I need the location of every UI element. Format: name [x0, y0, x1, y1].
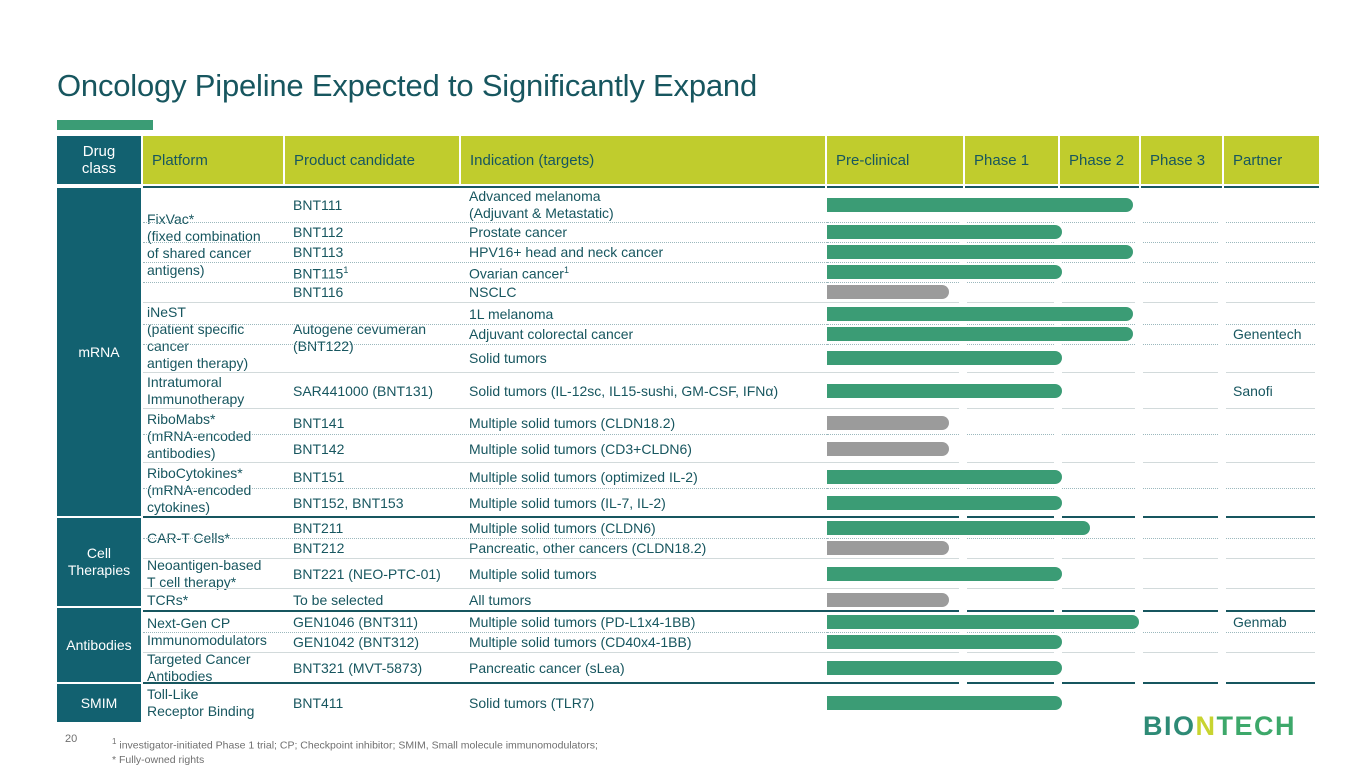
row-divider [967, 682, 1054, 684]
row-divider [143, 324, 877, 325]
footnote-text-1: investigator-initiated Phase 1 trial; CP… [119, 740, 598, 752]
indication-label: Multiple solid tumors (CLDN18.2) [469, 415, 675, 432]
row-divider [1226, 434, 1315, 435]
row-divider [827, 434, 959, 435]
stage-bar [827, 307, 1133, 321]
platform-cell: RiboCytokines* (mRNA-encoded cytokines) [143, 464, 287, 516]
indication-cell: Multiple solid tumors (CLDN6) [465, 518, 881, 538]
page-title: Oncology Pipeline Expected to Significan… [57, 68, 757, 104]
product-candidate-cell: BNT1151 [289, 262, 465, 282]
product-candidate-label: BNT141 [293, 415, 344, 432]
row-divider [143, 652, 877, 653]
row-divider [1143, 434, 1218, 435]
product-candidate-cell: GEN1046 (BNT311) [289, 612, 465, 632]
row-divider [1143, 408, 1218, 409]
header-indication-label: Indication (targets) [461, 152, 594, 169]
header-platform-label: Platform [143, 152, 208, 169]
partner-cell: Genentech [1227, 324, 1323, 344]
row-divider [827, 242, 959, 243]
header-phase2: Phase 2 [1060, 136, 1139, 184]
product-candidate-cell: BNT111 [289, 188, 465, 222]
platform-label: Targeted Cancer Antibodies [147, 651, 251, 685]
header-preclinical: Pre-clinical [827, 136, 963, 184]
row-divider [1226, 610, 1315, 612]
platform-label: Neoantigen-based T cell therapy* [147, 557, 261, 591]
row-divider [827, 282, 959, 283]
row-divider [827, 262, 959, 263]
drug-class-smim: SMIM [57, 684, 141, 722]
indication-label: Prostate cancer [469, 224, 567, 241]
stage-bar [827, 265, 1062, 279]
row-divider [1062, 344, 1135, 345]
header-partner: Partner [1224, 136, 1319, 184]
platform-cell: Targeted Cancer Antibodies [143, 654, 287, 682]
row-divider [827, 344, 959, 345]
row-divider [1226, 516, 1315, 518]
indication-label: Multiple solid tumors (PD-L1x4-1BB) [469, 614, 695, 631]
row-divider [143, 558, 877, 559]
product-candidate-label: GEN1042 (BNT312) [293, 634, 419, 651]
row-divider [1062, 538, 1135, 539]
row-divider [1062, 302, 1135, 303]
platform-cell: TCRs* [143, 590, 287, 610]
stage-bar [827, 593, 949, 607]
platform-cell: Toll-Like Receptor Binding [143, 684, 287, 722]
header-drug-class-line1: Drug [83, 143, 116, 160]
product-candidate-cell: BNT142 [289, 436, 465, 462]
product-candidate-label: BNT221 (NEO-PTC-01) [293, 566, 441, 583]
header-platform: Platform [143, 136, 283, 184]
platform-label: Toll-Like Receptor Binding [147, 686, 254, 720]
row-divider [1143, 652, 1218, 653]
footnote-marker: 1 [112, 737, 116, 746]
product-candidate-label: BNT112 [293, 224, 343, 241]
row-divider [827, 538, 959, 539]
pipeline-table: Drug class Platform Product candidate In… [57, 136, 1319, 722]
row-divider [1143, 282, 1218, 283]
row-divider [143, 588, 877, 589]
row-divider [967, 372, 1054, 373]
row-divider [967, 302, 1054, 303]
row-divider [1143, 488, 1218, 489]
page-number: 20 [65, 733, 77, 745]
stage-bar [827, 442, 949, 456]
row-divider [967, 344, 1054, 345]
header-phase2-label: Phase 2 [1060, 152, 1124, 169]
stage-bar [827, 351, 1062, 365]
row-divider [1062, 282, 1135, 283]
product-candidate-cell: SAR441000 (BNT131) [289, 374, 465, 408]
row-divider [143, 632, 877, 633]
stage-bar [827, 470, 1062, 484]
row-divider [1062, 408, 1135, 409]
row-divider [1143, 516, 1218, 518]
header-product-candidate: Product candidate [285, 136, 459, 184]
product-candidate-cell: BNT321 (MVT-5873) [289, 654, 465, 682]
stage-bar [827, 521, 1090, 535]
row-divider [967, 652, 1054, 653]
row-divider [1226, 538, 1315, 539]
row-divider [827, 222, 959, 223]
partner-cell: Genmab [1227, 612, 1323, 632]
row-divider [967, 610, 1054, 612]
platform-label: RiboCytokines* (mRNA-encoded cytokines) [147, 465, 251, 516]
row-divider [827, 558, 959, 559]
product-candidate-label: Autogene cevumeran (BNT122) [293, 321, 426, 355]
indication-label: Multiple solid tumors (IL-7, IL-2) [469, 495, 666, 512]
partner-label: Sanofi [1233, 383, 1273, 400]
platform-cell: FixVac* (fixed combination of shared can… [143, 188, 287, 302]
row-divider [1062, 222, 1135, 223]
stage-bar [827, 696, 1062, 710]
product-candidate-cell: BNT141 [289, 410, 465, 436]
product-candidate-cell: BNT116 [289, 282, 465, 302]
drug-class-antibodies: Antibodies [57, 608, 141, 682]
row-divider [967, 488, 1054, 489]
row-divider [1062, 632, 1135, 633]
row-divider [1062, 372, 1135, 373]
stage-bar [827, 661, 1062, 675]
row-divider [1062, 588, 1135, 589]
product-candidate-cell: To be selected [289, 590, 465, 610]
row-divider [1143, 324, 1218, 325]
row-divider [827, 408, 959, 409]
indication-cell: Multiple solid tumors (CD40x4-1BB) [465, 632, 881, 652]
product-candidate-label: BNT211 [293, 520, 343, 537]
row-divider [1143, 302, 1218, 303]
stage-bar [827, 384, 1062, 398]
stage-bar [827, 198, 1133, 212]
product-candidate-cell: Autogene cevumeran (BNT122) [289, 304, 465, 372]
row-divider [1143, 682, 1218, 684]
platform-cell: iNeST (patient specific cancer antigen t… [143, 304, 287, 372]
header-phase1: Phase 1 [965, 136, 1058, 184]
indication-cell: Pancreatic, other cancers (CLDN18.2) [465, 538, 881, 558]
product-candidate-cell: GEN1042 (BNT312) [289, 632, 465, 652]
row-divider [967, 558, 1054, 559]
row-divider [1226, 558, 1315, 559]
row-divider [1143, 610, 1218, 612]
product-candidate-label: GEN1046 (BNT311) [293, 614, 418, 631]
drug-class-antibodies-label: Antibodies [66, 637, 131, 654]
stage-bar [827, 635, 1062, 649]
biontech-logo: BIONTECH [1143, 711, 1296, 742]
product-candidate-label: BNT111 [293, 197, 342, 214]
row-divider [1143, 344, 1218, 345]
row-divider [143, 488, 877, 489]
indication-label: Multiple solid tumors (CLDN6) [469, 520, 656, 537]
platform-cell: Neoantigen-based T cell therapy* [143, 560, 287, 588]
row-divider [1062, 262, 1135, 263]
indication-label: Solid tumors (IL-12sc, IL15-sushi, GM-CS… [469, 383, 778, 400]
indication-cell: Adjuvant colorectal cancer [465, 324, 881, 344]
pipeline-body: FixVac* (fixed combination of shared can… [143, 188, 1319, 722]
header-drug-class: Drug class [57, 136, 141, 184]
indication-label: Multiple solid tumors [469, 566, 597, 583]
product-candidate-label: To be selected [293, 592, 383, 609]
row-divider [827, 302, 959, 303]
row-divider [827, 652, 959, 653]
footnote-line-2: * Fully-owned rights [112, 753, 598, 767]
platform-cell: Intratumoral Immunotherapy [143, 374, 287, 408]
stage-bar [827, 416, 949, 430]
product-candidate-label: BNT1151 [293, 262, 348, 283]
indication-label: Multiple solid tumors (CD40x4-1BB) [469, 634, 692, 651]
product-candidate-label: BNT152, BNT153 [293, 495, 404, 512]
row-divider [967, 222, 1054, 223]
row-divider [143, 344, 877, 345]
row-divider [1143, 222, 1218, 223]
row-divider [967, 588, 1054, 589]
row-divider [1226, 344, 1315, 345]
row-divider [1226, 488, 1315, 489]
row-divider [827, 516, 959, 518]
row-divider [967, 516, 1054, 518]
row-divider [1062, 610, 1135, 612]
row-divider [1226, 408, 1315, 409]
platform-label: Intratumoral Immunotherapy [147, 374, 244, 408]
row-divider [143, 262, 877, 263]
drug-class-cell-therapies-label: Cell Therapies [68, 545, 130, 579]
row-divider [1062, 558, 1135, 559]
row-divider [1226, 372, 1315, 373]
header-product-candidate-label: Product candidate [285, 152, 415, 169]
indication-cell: Multiple solid tumors (optimized IL-2) [465, 464, 881, 490]
row-divider [1062, 434, 1135, 435]
indication-label: Pancreatic cancer (sLea) [469, 660, 625, 677]
row-divider [143, 610, 877, 612]
row-divider [1062, 462, 1135, 463]
product-candidate-cell: BNT152, BNT153 [289, 490, 465, 516]
row-divider [143, 302, 877, 303]
partner-label: Genmab [1233, 614, 1287, 631]
drug-class-mrna-label: mRNA [78, 344, 119, 361]
drug-class-smim-label: SMIM [81, 695, 118, 712]
indication-cell: 1L melanoma [465, 304, 881, 324]
footnote-line-1: 1 investigator-initiated Phase 1 trial; … [112, 735, 598, 753]
product-candidate-label: SAR441000 (BNT131) [293, 383, 433, 400]
product-candidate-cell: BNT212 [289, 538, 465, 558]
row-divider [143, 222, 877, 223]
row-divider [1226, 682, 1315, 684]
row-divider [1062, 242, 1135, 243]
row-divider [827, 462, 959, 463]
platform-label: iNeST (patient specific cancer antigen t… [147, 304, 248, 372]
row-divider [1226, 282, 1315, 283]
row-divider [143, 538, 877, 539]
indication-label: Pancreatic, other cancers (CLDN18.2) [469, 540, 706, 557]
row-divider [827, 372, 959, 373]
indication-cell: Solid tumors (TLR7) [465, 684, 881, 722]
row-divider [143, 516, 877, 518]
row-divider [1226, 222, 1315, 223]
row-divider [967, 242, 1054, 243]
indication-label: Multiple solid tumors (optimized IL-2) [469, 469, 698, 486]
stage-bar [827, 541, 949, 555]
platform-label: TCRs* [147, 592, 188, 609]
row-divider [967, 462, 1054, 463]
stage-bar [827, 567, 1062, 581]
header-indication: Indication (targets) [461, 136, 825, 184]
row-divider [1226, 302, 1315, 303]
product-candidate-label: BNT151 [293, 469, 344, 486]
logo-part-2: N [1196, 711, 1217, 741]
indication-cell: Prostate cancer [465, 222, 881, 242]
header-phase1-label: Phase 1 [965, 152, 1029, 169]
indication-label: Adjuvant colorectal cancer [469, 326, 633, 343]
product-candidate-cell: BNT113 [289, 242, 465, 262]
indication-cell: Advanced melanoma (Adjuvant & Metastatic… [465, 188, 881, 222]
row-divider [1226, 324, 1315, 325]
row-divider [967, 262, 1054, 263]
accent-bar [57, 120, 153, 130]
row-divider [827, 682, 959, 684]
logo-part-1: BIO [1143, 711, 1196, 741]
row-divider [827, 632, 959, 633]
candidate-footnote-marker: 1 [343, 265, 348, 275]
footnotes: 1 investigator-initiated Phase 1 trial; … [112, 735, 598, 767]
indication-cell: Ovarian cancer1 [465, 262, 881, 282]
indication-cell: Multiple solid tumors (IL-7, IL-2) [465, 490, 881, 516]
row-divider [143, 282, 877, 283]
row-divider [1062, 324, 1135, 325]
drug-class-cell-therapies: Cell Therapies [57, 518, 141, 606]
indication-cell: All tumors [465, 590, 881, 610]
indication-label: 1L melanoma [469, 306, 553, 323]
row-divider [143, 682, 877, 684]
stage-bar [827, 285, 949, 299]
header-phase3-label: Phase 3 [1141, 152, 1205, 169]
product-candidate-label: BNT212 [293, 540, 344, 557]
stage-bar [827, 496, 1062, 510]
row-divider [827, 488, 959, 489]
row-divider [1143, 462, 1218, 463]
header-phase3: Phase 3 [1141, 136, 1222, 184]
row-divider [1062, 488, 1135, 489]
product-candidate-cell: BNT221 (NEO-PTC-01) [289, 560, 465, 588]
row-divider [1143, 632, 1218, 633]
logo-part-3: TECH [1217, 711, 1297, 741]
header-drug-class-line2: class [82, 160, 116, 177]
row-divider [1143, 558, 1218, 559]
indication-cell: HPV16+ head and neck cancer [465, 242, 881, 262]
drug-class-mrna: mRNA [57, 188, 141, 516]
row-divider [1143, 538, 1218, 539]
product-candidate-label: BNT113 [293, 244, 343, 261]
row-divider [143, 408, 877, 409]
product-candidate-cell: BNT112 [289, 222, 465, 242]
row-divider [1226, 262, 1315, 263]
stage-bar [827, 615, 1139, 629]
row-divider [827, 610, 959, 612]
product-candidate-cell: BNT211 [289, 518, 465, 538]
header-preclinical-label: Pre-clinical [827, 152, 909, 169]
platform-cell: RiboMabs* (mRNA-encoded antibodies) [143, 410, 287, 462]
indication-cell: NSCLC [465, 282, 881, 302]
row-divider [827, 588, 959, 589]
row-divider [967, 538, 1054, 539]
row-divider [967, 282, 1054, 283]
indication-label: Solid tumors (TLR7) [469, 695, 594, 712]
indication-label: Ovarian cancer1 [469, 262, 569, 283]
row-divider [1143, 262, 1218, 263]
row-divider [1226, 588, 1315, 589]
indication-cell: Pancreatic cancer (sLea) [465, 654, 881, 682]
product-candidate-label: BNT321 (MVT-5873) [293, 660, 422, 677]
indication-cell: Multiple solid tumors (CLDN18.2) [465, 410, 881, 436]
row-divider [1226, 242, 1315, 243]
indication-label: All tumors [469, 592, 531, 609]
row-divider [143, 434, 877, 435]
platform-label: RiboMabs* (mRNA-encoded antibodies) [147, 411, 251, 462]
product-candidate-label: BNT116 [293, 284, 343, 301]
row-divider [1143, 242, 1218, 243]
indication-cell: Multiple solid tumors (CD3+CLDN6) [465, 436, 881, 462]
indication-label: NSCLC [469, 284, 516, 301]
product-candidate-cell: BNT151 [289, 464, 465, 490]
header-partner-label: Partner [1224, 152, 1282, 169]
row-divider [1226, 652, 1315, 653]
stage-bar [827, 245, 1133, 259]
indication-footnote-marker: 1 [564, 265, 569, 275]
product-candidate-label: BNT142 [293, 441, 344, 458]
row-divider [1062, 516, 1135, 518]
product-candidate-cell: BNT411 [289, 684, 465, 722]
product-candidate-label: BNT411 [293, 695, 343, 712]
stage-bar [827, 225, 1062, 239]
indication-label: Advanced melanoma (Adjuvant & Metastatic… [469, 188, 614, 222]
row-divider [143, 242, 877, 243]
row-divider [967, 632, 1054, 633]
row-divider [967, 324, 1054, 325]
row-divider [1226, 462, 1315, 463]
row-divider [967, 408, 1054, 409]
row-divider [1062, 652, 1135, 653]
row-divider [1226, 632, 1315, 633]
row-divider [143, 462, 877, 463]
indication-cell: Solid tumors (IL-12sc, IL15-sushi, GM-CS… [465, 374, 881, 408]
indication-cell: Multiple solid tumors [465, 560, 881, 588]
row-divider [967, 434, 1054, 435]
row-divider [1062, 682, 1135, 684]
stage-bar [827, 327, 1133, 341]
indication-label: Multiple solid tumors (CD3+CLDN6) [469, 441, 692, 458]
partner-cell: Sanofi [1227, 374, 1323, 408]
partner-label: Genentech [1233, 326, 1302, 343]
indication-cell: Multiple solid tumors (PD-L1x4-1BB) [465, 612, 881, 632]
row-divider [143, 372, 877, 373]
indication-label: Solid tumors [469, 350, 547, 367]
row-divider [827, 324, 959, 325]
indication-cell: Solid tumors [465, 344, 881, 372]
indication-label: HPV16+ head and neck cancer [469, 244, 663, 261]
row-divider [1143, 372, 1218, 373]
row-divider [1143, 588, 1218, 589]
